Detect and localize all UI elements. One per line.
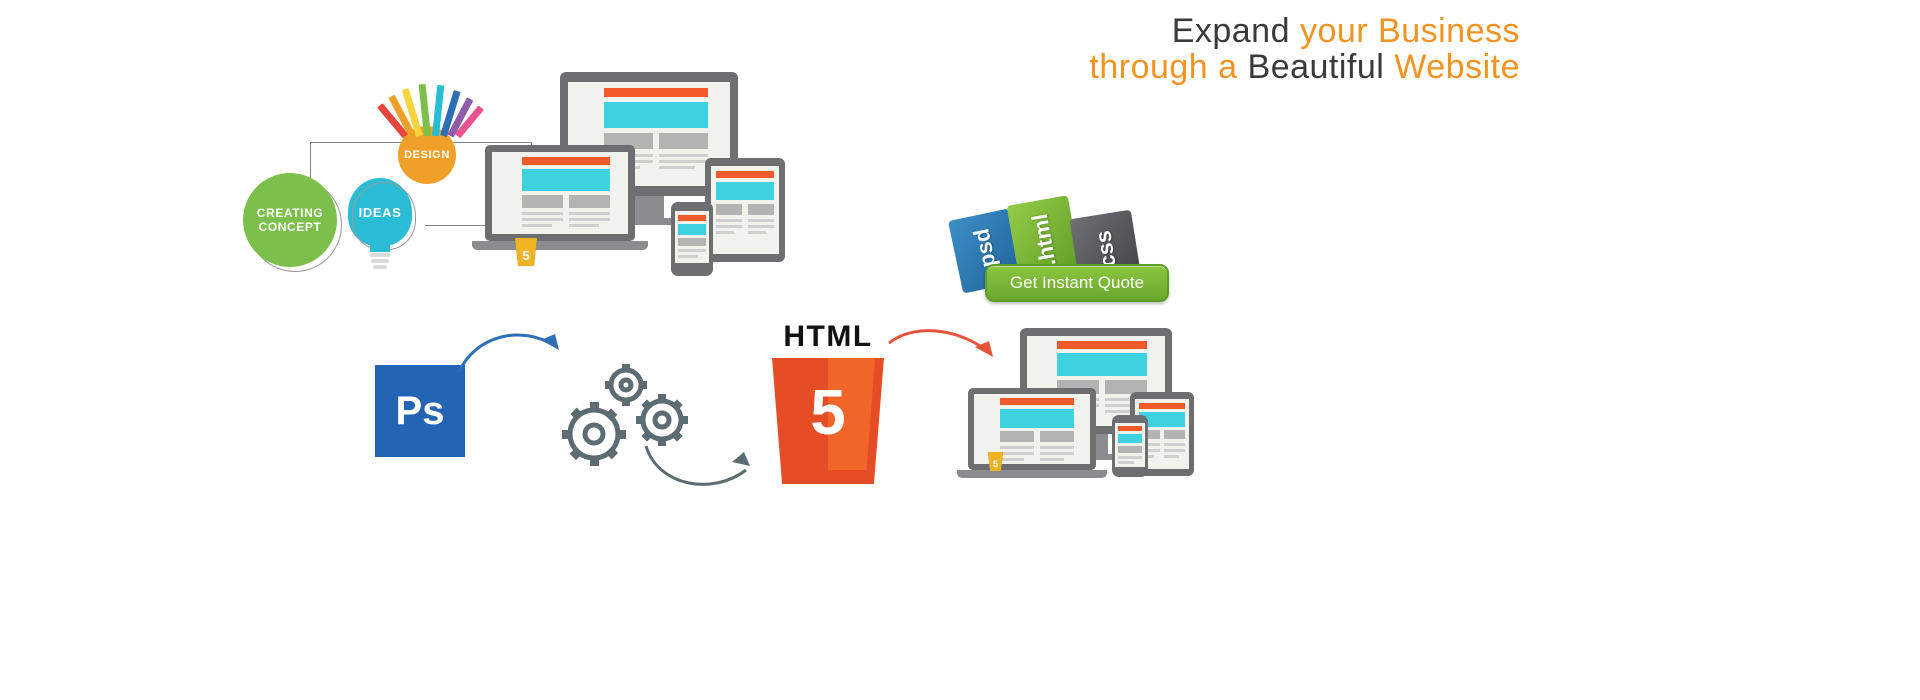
bulb-screw-1 — [370, 253, 390, 257]
headline-line2-orange: through a — [1089, 48, 1247, 86]
tablet-text-line — [716, 219, 742, 222]
creating-concept-label-line2: CONCEPT — [257, 220, 324, 234]
laptop-text-line — [522, 224, 552, 227]
page-title: Expand your Business through a Beautiful… — [900, 14, 1520, 85]
phone-text-line — [1118, 456, 1142, 459]
arrow-gears-to-html5 — [640, 430, 770, 500]
photoshop-icon: Ps — [375, 365, 465, 457]
ideas-bulb-neck — [370, 242, 390, 252]
laptop-text-line — [1040, 458, 1064, 461]
headline-line-2: through a Beautiful Website — [900, 50, 1520, 86]
ideas-bulb: IDEAS — [348, 178, 412, 246]
tablet-bezel — [705, 158, 785, 262]
ideas-bulb-ring — [352, 182, 416, 250]
laptop-content-block — [1040, 431, 1074, 442]
laptop-bezel — [968, 388, 1096, 470]
laptop-mockup — [485, 145, 635, 241]
laptop-text-line — [1040, 446, 1074, 449]
tablet-text-line — [748, 225, 774, 228]
tablet-text-line — [1164, 443, 1185, 446]
laptop-text-line — [1000, 452, 1034, 455]
headline-line-1: Expand your Business — [900, 14, 1520, 50]
phone-text-line — [1118, 461, 1134, 464]
tablet-header-bar — [1139, 403, 1185, 409]
monitor-header-bar — [604, 88, 708, 97]
html5-logo: HTML 5 — [772, 320, 884, 484]
laptop-keyboard-base — [472, 241, 648, 250]
headline-line1-orange: your Business — [1300, 12, 1520, 50]
laptop-content-block — [522, 195, 563, 208]
laptop-text-line — [522, 218, 563, 221]
tablet-screen — [711, 166, 779, 254]
tablet-hero-banner — [716, 182, 774, 200]
html5-logo-number: 5 — [772, 380, 884, 444]
pencils-group — [400, 82, 470, 136]
design-label: DESIGN — [404, 149, 450, 161]
phone-mockup — [1112, 415, 1148, 477]
tablet-content-block — [1164, 430, 1185, 439]
monitor-hero-banner — [1057, 353, 1147, 376]
monitor-content-block — [659, 133, 708, 149]
laptop-text-line — [1000, 458, 1024, 461]
phone-hero-banner — [1118, 434, 1142, 443]
tablet-mockup — [705, 158, 785, 262]
instant-quote-panel: .psd .html .css Get Instant Quote — [955, 192, 1195, 302]
laptop-bezel — [485, 145, 635, 241]
js-badge-label: 5 — [522, 248, 529, 263]
headline-line1-dark: Expand — [1172, 12, 1300, 50]
laptop-header-bar — [522, 157, 610, 165]
phone-mockup — [671, 202, 713, 276]
photoshop-label: Ps — [396, 389, 445, 434]
creating-concept-label-line1: CREATING — [257, 206, 324, 220]
tablet-text-line — [716, 225, 742, 228]
phone-header-bar — [1118, 426, 1142, 431]
phone-hero-banner — [678, 224, 706, 235]
tablet-content-block — [748, 204, 774, 215]
phone-bezel — [671, 202, 713, 276]
tablet-text-line — [1164, 455, 1179, 458]
monitor-stand-neck — [634, 196, 664, 218]
tablet-header-bar — [716, 171, 774, 178]
get-instant-quote-label: Get Instant Quote — [1010, 273, 1144, 293]
html-file-card-label: .html — [1027, 212, 1062, 268]
creating-concept-circle: CREATING CONCEPT — [243, 173, 337, 267]
laptop-mockup — [968, 388, 1096, 470]
get-instant-quote-button[interactable]: Get Instant Quote — [985, 264, 1169, 302]
js-badge: 5 — [988, 452, 1003, 471]
html5-logo-word: HTML — [772, 320, 884, 354]
laptop-text-line — [569, 218, 610, 221]
laptop-keyboard-base — [957, 470, 1107, 478]
laptop-content-block — [569, 195, 610, 208]
headline-line2-dark: Beautiful — [1248, 48, 1395, 86]
laptop-text-line — [1040, 452, 1074, 455]
monitor-hero-banner — [604, 102, 708, 128]
tablet-content-block — [716, 204, 742, 215]
laptop-text-line — [522, 212, 563, 215]
phone-header-bar — [678, 215, 706, 221]
monitor-header-bar — [1057, 341, 1147, 349]
tablet-text-line — [1164, 449, 1185, 452]
phone-content-block — [678, 238, 706, 246]
laptop-header-bar — [1000, 398, 1074, 405]
phone-content-block — [1118, 446, 1142, 453]
bulb-screw-2 — [371, 259, 389, 263]
phone-text-line — [678, 249, 706, 252]
tablet-text-line — [748, 219, 774, 222]
laptop-text-line — [569, 224, 599, 227]
phone-text-line — [678, 255, 698, 258]
illustration-banner: Expand your Business through a Beautiful… — [0, 0, 1920, 700]
laptop-screen — [492, 152, 628, 234]
js-badge-label: 5 — [993, 459, 998, 469]
laptop-text-line — [1000, 446, 1034, 449]
bulb-screw-3 — [373, 265, 387, 269]
laptop-content-block — [1000, 431, 1034, 442]
tablet-text-line — [748, 231, 766, 234]
headline-line2-orange2: Website — [1394, 48, 1520, 86]
phone-bezel — [1112, 415, 1148, 477]
monitor-text-line — [659, 160, 708, 163]
laptop-text-line — [569, 212, 610, 215]
tablet-text-line — [716, 231, 734, 234]
html5-logo-shield: 5 — [772, 358, 884, 484]
phone-screen — [1115, 423, 1145, 467]
arrow-html5-to-devices — [885, 325, 1015, 385]
laptop-hero-banner — [522, 169, 610, 191]
laptop-hero-banner — [1000, 409, 1074, 428]
phone-screen — [675, 211, 709, 263]
monitor-text-line — [659, 154, 708, 157]
monitor-text-line — [659, 166, 695, 169]
js-badge: 5 — [515, 238, 537, 266]
